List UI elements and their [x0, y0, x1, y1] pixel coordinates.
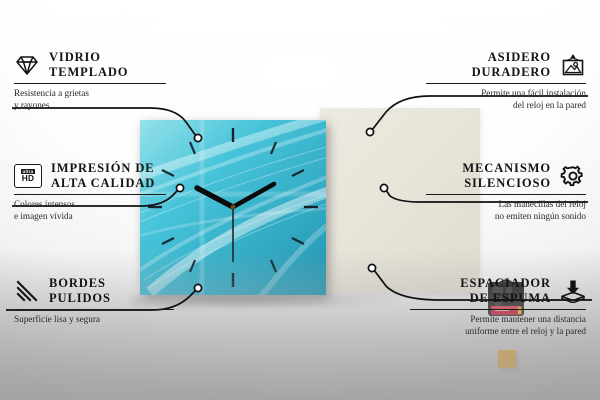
glass-wall-clock [140, 120, 326, 295]
feature-durable-hanger: ASIDERO DURADERO Permite una fácil insta… [426, 50, 586, 111]
feature-title-line2: ALTA CALIDAD [51, 176, 155, 191]
feature-silent-mechanism: MECANISMO SILENCIOSO Las manecillas del … [426, 161, 586, 222]
feature-title-line2: DURADERO [472, 65, 551, 80]
feature-tempered-glass: VIDRIO TEMPLADO Resistencia a grietas y … [14, 50, 166, 111]
picture-frame-icon [560, 53, 586, 77]
feature-title-line2: PULIDOS [49, 291, 111, 306]
ultra-hd-badge-icon: ultraHD [14, 164, 42, 188]
feature-title-line2: TEMPLADO [49, 65, 128, 80]
down-arrow-pad-icon [560, 279, 586, 303]
feature-description: Permite una fácil instalación del reloj … [426, 88, 586, 111]
infographic-canvas: VIDRIO TEMPLADO Resistencia a grietas y … [0, 0, 600, 400]
feature-divider [426, 194, 586, 195]
product-group [140, 108, 390, 298]
feature-title-line1: ESPACIADOR [460, 276, 551, 291]
feature-title-line1: BORDES [49, 276, 106, 291]
feature-divider [14, 83, 166, 84]
feature-divider [14, 309, 174, 310]
feature-description: Permite mantener una distancia uniforme … [410, 314, 586, 337]
feature-title-line1: ASIDERO [488, 50, 551, 65]
feature-description: Superficie lisa y segura [14, 314, 174, 326]
feature-divider [426, 83, 586, 84]
feature-description: Colores intensos e imagen vívida [14, 199, 166, 222]
feature-divider [14, 194, 166, 195]
feature-polished-edges: BORDES PULIDOS Superficie lisa y segura [14, 276, 174, 326]
feature-title-line1: MECANISMO [462, 161, 551, 176]
feature-divider [410, 309, 586, 310]
feature-foam-spacer: ESPACIADOR DE ESPUMA Permite mantener un… [410, 276, 586, 337]
gear-icon [560, 164, 586, 188]
feature-title-line2: SILENCIOSO [464, 176, 551, 191]
feature-title-line2: DE ESPUMA [470, 291, 551, 306]
feature-title-line1: IMPRESIÓN DE [51, 161, 155, 176]
feature-description: Las manecillas del reloj no emiten ningú… [426, 199, 586, 222]
diamond-icon [14, 53, 40, 77]
clock-face-artwork [140, 120, 326, 295]
feature-hd-print: ultraHD IMPRESIÓN DE ALTA CALIDAD Colore… [14, 161, 166, 222]
foam-spacer-piece [498, 350, 516, 368]
feature-title-line1: VIDRIO [49, 50, 101, 65]
feature-description: Resistencia a grietas y rayones [14, 88, 166, 111]
diagonal-lines-icon [14, 279, 40, 303]
